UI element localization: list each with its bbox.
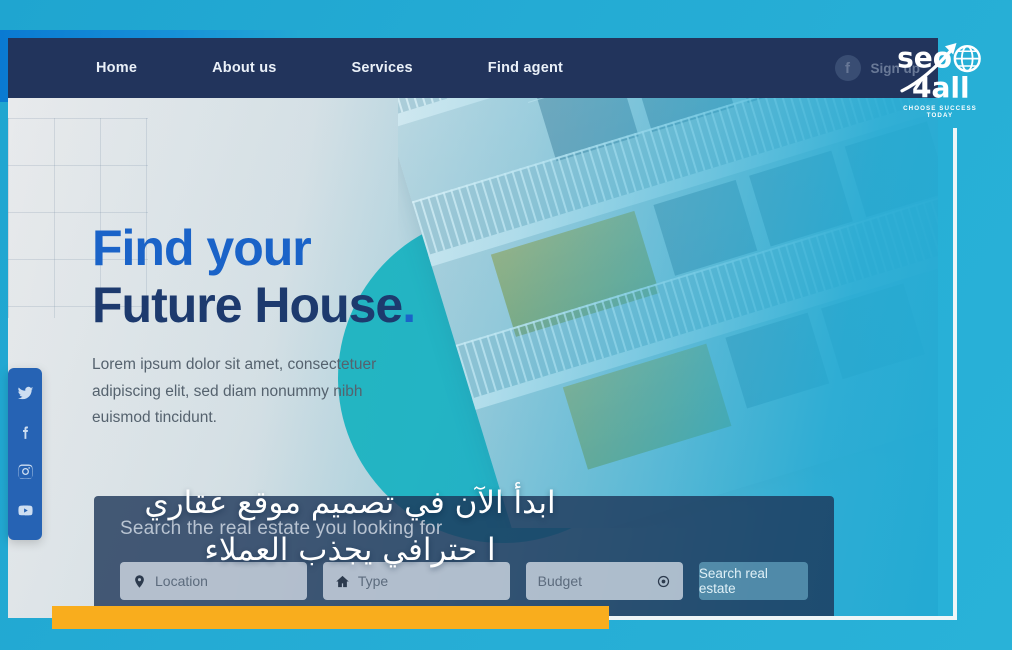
location-pin-icon — [132, 574, 147, 589]
seo4all-logo-mark: seo 4all — [890, 38, 990, 104]
logo-tagline: CHOOSE SUCCESS TODAY — [890, 105, 990, 119]
nav-item-home[interactable]: Home — [96, 60, 137, 76]
hero-heading-line2: Future House. — [92, 277, 512, 334]
progress-bar-track[interactable] — [52, 606, 957, 629]
hero-heading-line1: Find your — [92, 220, 512, 277]
arabic-overlay-text: ابدأ الآن في تصميم موقع عقاري ا حترافي ي… — [0, 480, 700, 574]
hero-heading-period: . — [402, 277, 415, 333]
progress-bar-fill — [52, 606, 609, 629]
target-icon — [656, 574, 671, 589]
type-input-text: Type — [358, 573, 388, 589]
hero-copy: Find your Future House. Lorem ipsum dolo… — [92, 220, 512, 432]
budget-input-text: Budget — [538, 573, 582, 589]
arabic-line-1: ابدأ الآن في تصميم موقع عقاري — [0, 480, 700, 527]
arabic-line-2: ا حترافي يجذب العملاء — [0, 527, 700, 574]
facebook-icon[interactable] — [17, 424, 34, 446]
site-navbar: Home About us Services Find agent f Sign… — [8, 38, 938, 98]
svg-text:4all: 4all — [912, 71, 970, 104]
nav-links: Home About us Services Find agent — [96, 60, 638, 76]
hero-heading-line2-text: Future House — [92, 277, 402, 333]
hero-paragraph: Lorem ipsum dolor sit amet, consectetuer… — [92, 352, 402, 432]
nav-item-services[interactable]: Services — [352, 60, 413, 76]
location-input-text: Location — [155, 573, 208, 589]
house-icon — [335, 574, 350, 589]
twitter-icon[interactable] — [17, 385, 34, 407]
avatar[interactable]: f — [835, 55, 861, 81]
brand-logo: seo 4all CHOOSE SUCCESS TODAY — [890, 38, 990, 119]
nav-item-about-us[interactable]: About us — [212, 60, 276, 76]
page-canvas: Home About us Services Find agent f Sign… — [0, 0, 1012, 650]
nav-item-find-agent[interactable]: Find agent — [488, 60, 563, 76]
search-real-estate-button[interactable]: Search real estate — [699, 562, 808, 600]
frame-vertical-line — [953, 128, 957, 620]
